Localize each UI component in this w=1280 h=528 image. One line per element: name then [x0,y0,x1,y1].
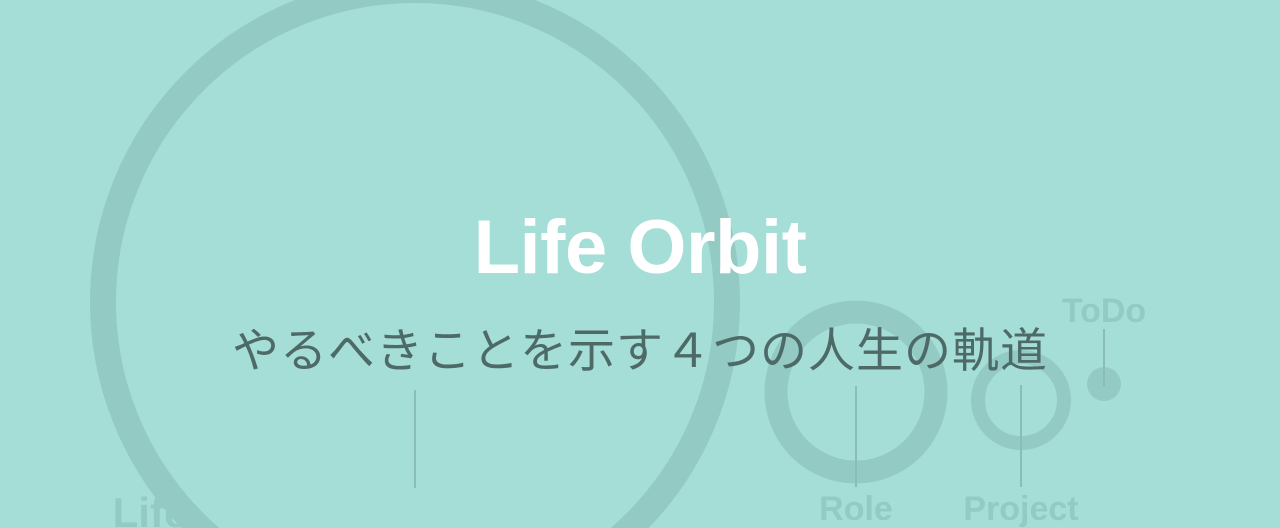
page-title: Life Orbit [0,206,1280,290]
orbit-label-life: Life [0,489,300,528]
orbit-label-project: Project [871,489,1171,528]
hero-text-layer: Life Orbit やるべきことを示す４つの人生の軌道 [0,0,1280,528]
orbit-label-todo: ToDo [954,291,1254,331]
hero-banner: Life Orbit やるべきことを示す４つの人生の軌道 Life Role P… [0,0,1280,528]
